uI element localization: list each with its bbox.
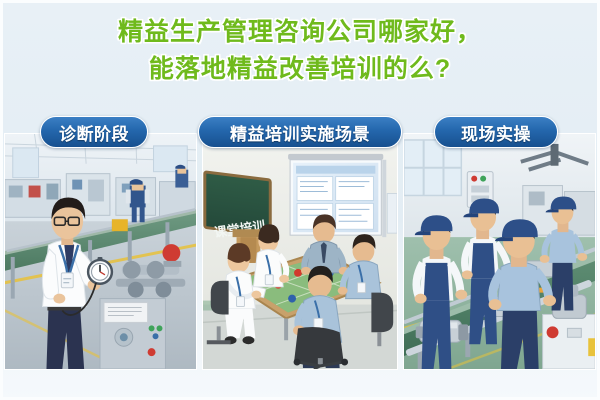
onsite-practice-illustration xyxy=(404,134,595,369)
panel-diagnosis-stage xyxy=(4,133,197,370)
panel-onsite-practice xyxy=(403,133,596,370)
panel-row: 课堂培训 xyxy=(4,133,596,370)
panel-lean-training: 课堂培训 xyxy=(202,133,398,370)
badge-row: 诊断阶段 精益培训实施场景 现场实操 xyxy=(0,116,600,150)
poster-root: 精益生产管理咨询公司哪家好， 能落地精益改善培训的么? xyxy=(0,0,600,400)
title-line-1: 精益生产管理咨询公司哪家好， xyxy=(0,16,600,49)
diagnosis-stage-illustration xyxy=(5,134,196,369)
page-title: 精益生产管理咨询公司哪家好， 能落地精益改善培训的么? xyxy=(0,16,600,86)
badge-diagnosis-stage[interactable]: 诊断阶段 xyxy=(40,116,148,148)
projection-screen xyxy=(288,154,386,237)
badge-onsite-practice[interactable]: 现场实操 xyxy=(434,116,558,148)
badge-lean-training[interactable]: 精益培训实施场景 xyxy=(198,116,402,148)
lean-training-illustration: 课堂培训 xyxy=(203,134,397,369)
title-line-2: 能落地精益改善培训的么? xyxy=(0,53,600,86)
